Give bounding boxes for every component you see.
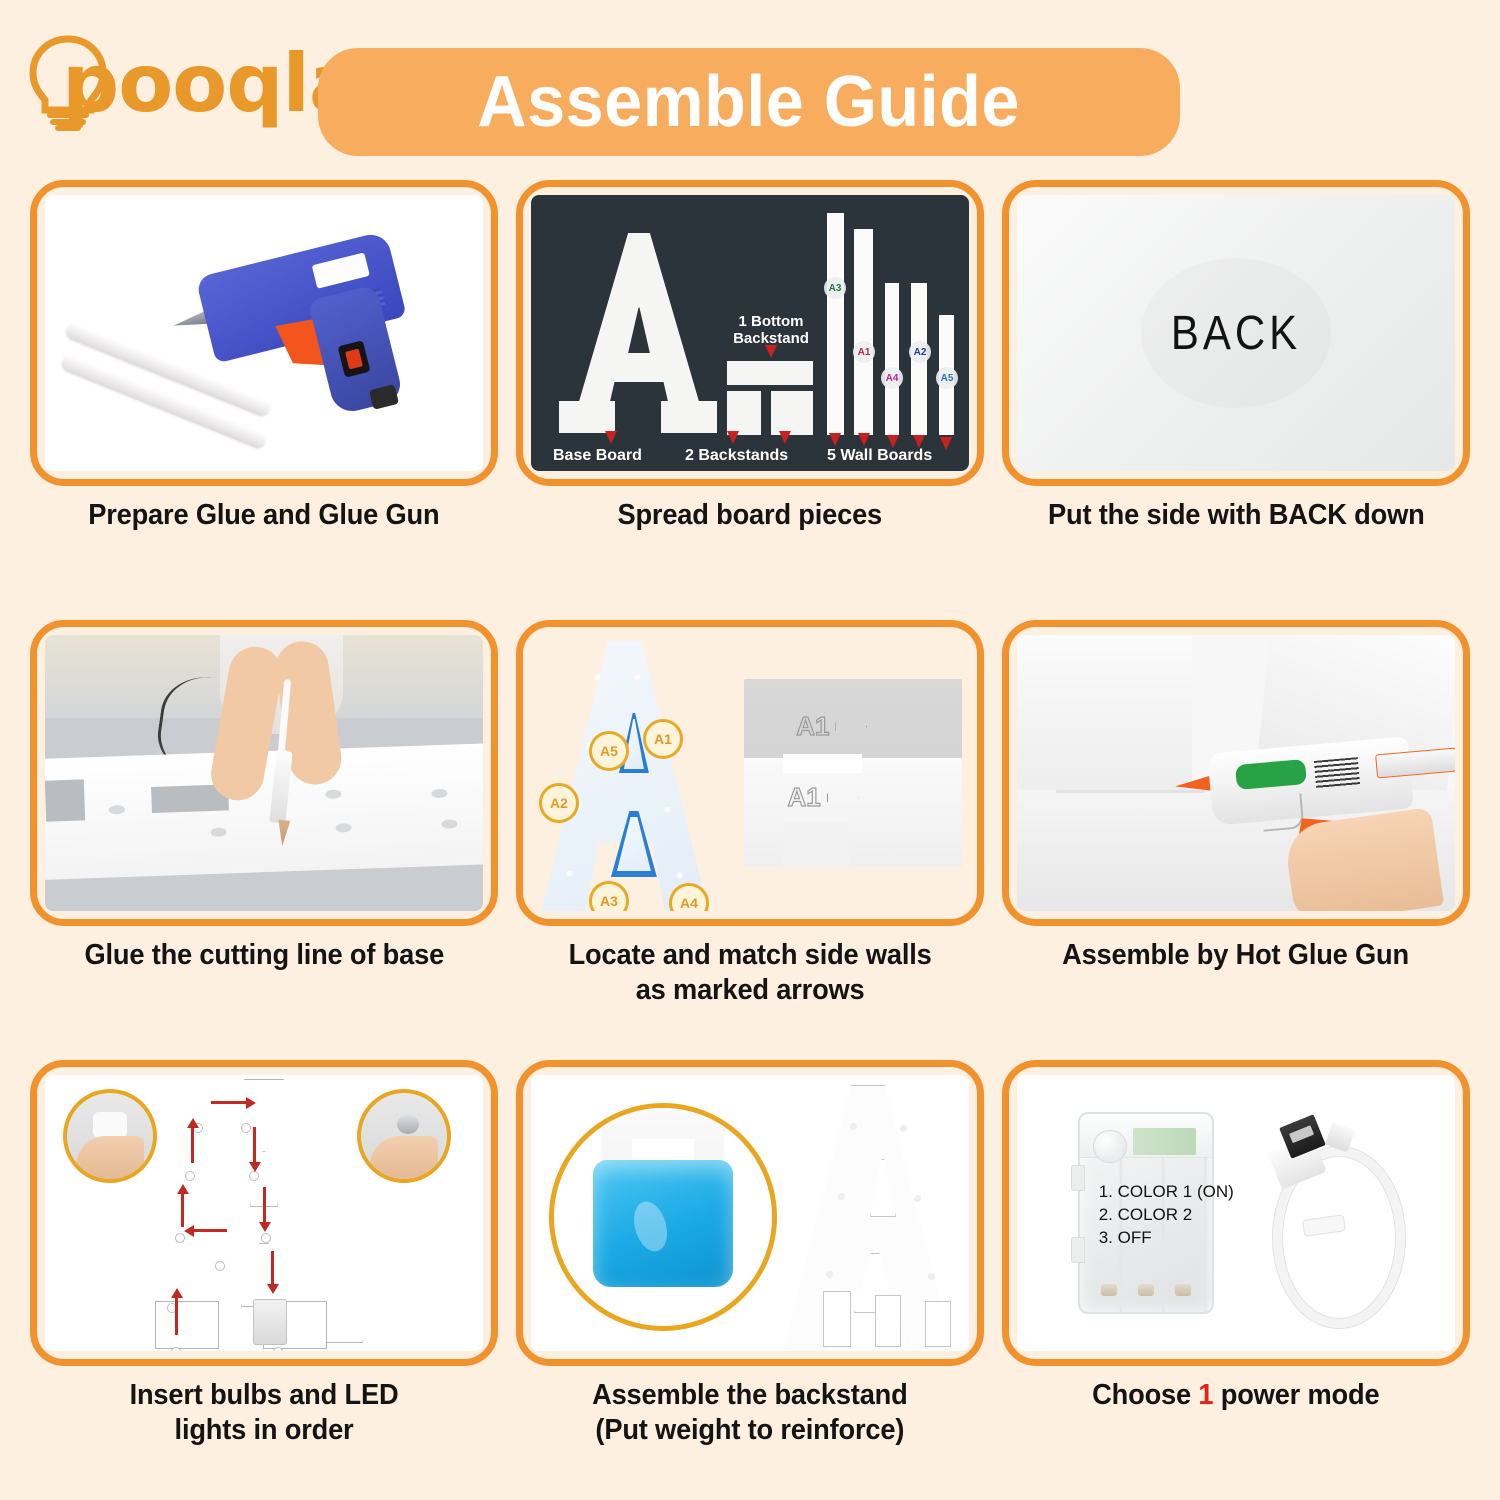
arrow-right-icon <box>827 787 859 809</box>
inset-photo-weight-bag <box>549 1103 777 1331</box>
step-6-caption: Assemble by Hot Glue Gun <box>1063 938 1410 973</box>
bulb-hole-dot <box>665 807 670 812</box>
step-2-caption: Spread board pieces <box>618 498 883 533</box>
arrow-icon <box>211 1101 247 1104</box>
wall-board-a3 <box>827 213 844 435</box>
badge-a3: A3 <box>824 277 846 299</box>
arrow-icon <box>263 1187 266 1223</box>
page-title: Assemble Guide <box>478 61 1021 143</box>
battery-box: 1. COLOR 1 (ON) 2. COLOR 2 3. OFF <box>1078 1112 1213 1315</box>
step-card-2: A3 A1 A4 A2 A5 1 BottomBackstand Base Bo… <box>516 180 984 610</box>
brand-logo: pooqla <box>22 31 362 135</box>
arrow-icon <box>605 431 617 444</box>
board-tab-lower <box>783 822 848 867</box>
step-3-caption: Put the side with BACK down <box>1048 498 1425 533</box>
letter-a-foot-left <box>155 1301 219 1349</box>
bulb-hole <box>838 1193 845 1200</box>
back-board-photo: BACK <box>1017 195 1455 471</box>
arrow-icon <box>829 433 841 446</box>
backstand-leg-left <box>823 1291 851 1347</box>
badge-a4: A4 <box>881 367 903 389</box>
board-wall-left <box>1017 635 1192 806</box>
battery-box-icon <box>253 1299 287 1345</box>
board-hole <box>442 820 458 830</box>
backstand-leg-right <box>925 1301 951 1347</box>
battery-box-tab <box>1071 1165 1085 1191</box>
step-card-9: 1. COLOR 1 (ON) 2. COLOR 2 3. OFF <box>1002 1060 1470 1490</box>
step-1-image-frame <box>30 180 498 486</box>
backstand-piece-right <box>771 391 813 435</box>
glue-base-photo <box>45 635 483 911</box>
arrow-right-icon <box>835 716 867 738</box>
bulb-hole-dot <box>677 873 682 878</box>
step-5-caption-line2: as marked arrows <box>636 974 865 1006</box>
bag-highlight <box>629 1198 672 1255</box>
base-board-counter <box>571 233 707 429</box>
water-weight-bag <box>593 1160 733 1286</box>
board-hole <box>109 804 125 814</box>
step-8-caption-line2: (Put weight to reinforce) <box>596 1414 905 1446</box>
bulb-icon <box>93 1112 127 1138</box>
inset-photo-bulb-install <box>63 1089 157 1183</box>
badge-a1: A1 <box>853 341 875 363</box>
step-4-image-frame <box>30 620 498 926</box>
arrow-icon <box>765 345 777 358</box>
locate-side-walls-diagram: A1 A5 A2 A3 A4 A1 A1 <box>531 635 969 911</box>
battery-cell <box>1138 1284 1154 1296</box>
led-bulb-icon <box>397 1115 419 1134</box>
hand <box>76 1136 145 1183</box>
glue-gun-photo <box>45 195 483 471</box>
insert-bulbs-diagram <box>45 1075 483 1351</box>
step-card-6: Assemble by Hot Glue Gun <box>1002 620 1470 1050</box>
brand-name: pooqla <box>62 37 362 130</box>
badge-a4: A4 <box>669 883 709 911</box>
back-board-oval: BACK <box>1141 258 1331 408</box>
page-header: pooqla Assemble Guide <box>0 0 1500 180</box>
bulb-hole <box>900 1125 907 1132</box>
step-5-image-frame: A1 A5 A2 A3 A4 A1 A1 <box>516 620 984 926</box>
circuit-board <box>1133 1128 1196 1156</box>
inset-photo-led-install <box>357 1089 451 1183</box>
hand <box>370 1136 439 1183</box>
step-8-image-frame <box>516 1060 984 1366</box>
step-card-3: BACK Put the side with BACK down <box>1002 180 1470 610</box>
hot-glue-gun-photo <box>1017 635 1455 911</box>
back-board-text: BACK <box>1171 305 1301 360</box>
step-7-caption-line2: lights in order <box>175 1414 354 1446</box>
base-board-label: Base Board <box>553 447 642 465</box>
board-hole <box>211 828 227 838</box>
step-1-caption: Prepare Glue and Glue Gun <box>88 498 439 533</box>
bulb-hole <box>185 1171 195 1181</box>
step-7-caption-line1: Insert bulbs and LED <box>130 1379 399 1411</box>
backstand-photo <box>531 1075 969 1351</box>
bulb-hole <box>914 1195 921 1202</box>
bulb-hole <box>928 1273 935 1280</box>
power-mode-3: 3. OFF <box>1099 1227 1234 1250</box>
badge-a5: A5 <box>936 367 958 389</box>
arrow-icon <box>193 1229 227 1232</box>
board-pieces-diagram: A3 A1 A4 A2 A5 1 BottomBackstand Base Bo… <box>531 195 969 471</box>
letter-a-outline-diagram: A1 A5 A2 A3 A4 <box>531 635 737 911</box>
step-8-caption-line1: Assemble the backstand <box>592 1379 908 1411</box>
step-card-7: Insert bulbs and LED lights in order <box>30 1060 498 1490</box>
bulb-hole <box>249 1171 259 1181</box>
step-7-caption: Insert bulbs and LED lights in order <box>130 1378 399 1449</box>
bulb-hole <box>826 1271 833 1278</box>
arrow-icon <box>191 1127 194 1163</box>
bulb-hole-dot <box>635 675 640 680</box>
glue-gun-label <box>312 252 370 288</box>
badge-a5: A5 <box>589 731 629 771</box>
step-card-5: A1 A5 A2 A3 A4 A1 A1 <box>516 620 984 1050</box>
bulb-hole <box>850 1123 857 1130</box>
bulb-hole-dot <box>567 871 572 876</box>
step-9-caption-number: 1 <box>1199 1379 1214 1411</box>
usb-cable <box>1240 1103 1424 1324</box>
power-mode-1: 1. COLOR 1 (ON) <box>1099 1181 1234 1204</box>
glue-gun-vent <box>1314 757 1360 788</box>
battery-cells <box>1091 1281 1201 1299</box>
badge-a2: A2 <box>909 341 931 363</box>
bottom-backstand-label: 1 BottomBackstand <box>717 313 825 348</box>
arrow-icon <box>940 437 952 450</box>
battery-box-tab <box>1071 1237 1085 1263</box>
bulb-hole <box>171 1347 181 1351</box>
step-5-caption: Locate and match side walls as marked ar… <box>568 938 931 1009</box>
base-board-foot-right <box>661 401 717 433</box>
battery-cell <box>1101 1284 1117 1296</box>
board-tab <box>783 754 862 773</box>
step-6-image-frame <box>1002 620 1470 926</box>
arrow-icon <box>253 1127 256 1163</box>
step-9-caption-prefix: Choose <box>1092 1379 1198 1411</box>
badge-a3: A3 <box>589 881 629 911</box>
step-5-caption-line1: Locate and match side walls <box>568 939 931 971</box>
power-mode-2: 2. COLOR 2 <box>1099 1204 1234 1227</box>
a1-mark-upper-text: A1 <box>796 711 829 742</box>
arrow-icon <box>181 1193 184 1227</box>
arrow-icon <box>271 1251 274 1285</box>
step-card-8: Assemble the backstand (Put weight to re… <box>516 1060 984 1490</box>
step-2-image-frame: A3 A1 A4 A2 A5 1 BottomBackstand Base Bo… <box>516 180 984 486</box>
wall-board-a1 <box>854 229 873 435</box>
a1-mark-lower-text: A1 <box>787 782 820 813</box>
backstand-leg-mid <box>875 1295 901 1347</box>
board-slot <box>46 779 86 822</box>
bulb-hole <box>215 1261 225 1271</box>
board-hole <box>336 823 352 833</box>
backstand-piece-left <box>727 391 761 435</box>
bulb-hole-dot <box>595 675 600 680</box>
step-3-image-frame: BACK <box>1002 180 1470 486</box>
bulb-hole <box>273 1347 283 1351</box>
badge-a1: A1 <box>643 719 683 759</box>
arrow-icon <box>779 431 791 444</box>
arrow-icon <box>858 433 870 446</box>
backstands-label: 2 Backstands <box>685 447 788 465</box>
arrow-icon <box>913 435 925 448</box>
arrow-icon <box>887 435 899 448</box>
power-box-photo: 1. COLOR 1 (ON) 2. COLOR 2 3. OFF <box>1017 1075 1455 1351</box>
bulb-hole <box>261 1233 271 1243</box>
a1-marking-photo: A1 A1 <box>737 635 969 911</box>
bulb-hole <box>241 1123 251 1133</box>
board-marking-closeup: A1 A1 <box>744 679 962 867</box>
arrow-icon <box>727 431 739 444</box>
board-hole <box>431 788 447 798</box>
a1-mark-upper: A1 <box>796 711 867 742</box>
battery-cell <box>1175 1284 1191 1296</box>
step-4-caption: Glue the cutting line of base <box>84 938 444 973</box>
steps-grid: Prepare Glue and Glue Gun A3 A1 A4 <box>0 180 1500 1490</box>
wall-boards-label: 5 Wall Boards <box>827 447 932 465</box>
a1-mark-lower: A1 <box>787 782 858 813</box>
step-9-caption: Choose 1 power mode <box>1092 1378 1379 1413</box>
step-card-1: Prepare Glue and Glue Gun <box>30 180 498 610</box>
page-title-pill: Assemble Guide <box>318 48 1180 156</box>
step-7-image-frame <box>30 1060 498 1366</box>
step-card-4: Glue the cutting line of base <box>30 620 498 1050</box>
badge-a2: A2 <box>539 783 579 823</box>
mode-button-icon <box>1093 1130 1127 1164</box>
wall-board-a4 <box>885 283 899 435</box>
step-9-image-frame: 1. COLOR 1 (ON) 2. COLOR 2 3. OFF <box>1002 1060 1470 1366</box>
bottom-backstand-piece <box>727 361 813 385</box>
board-hole <box>325 790 341 800</box>
power-mode-list: 1. COLOR 1 (ON) 2. COLOR 2 3. OFF <box>1099 1181 1234 1250</box>
glue-bead-line <box>1056 790 1205 793</box>
step-9-caption-suffix: power mode <box>1214 1379 1380 1411</box>
step-8-caption: Assemble the backstand (Put weight to re… <box>592 1378 908 1449</box>
base-board-foot-left <box>559 401 615 433</box>
arrow-icon <box>175 1297 178 1335</box>
